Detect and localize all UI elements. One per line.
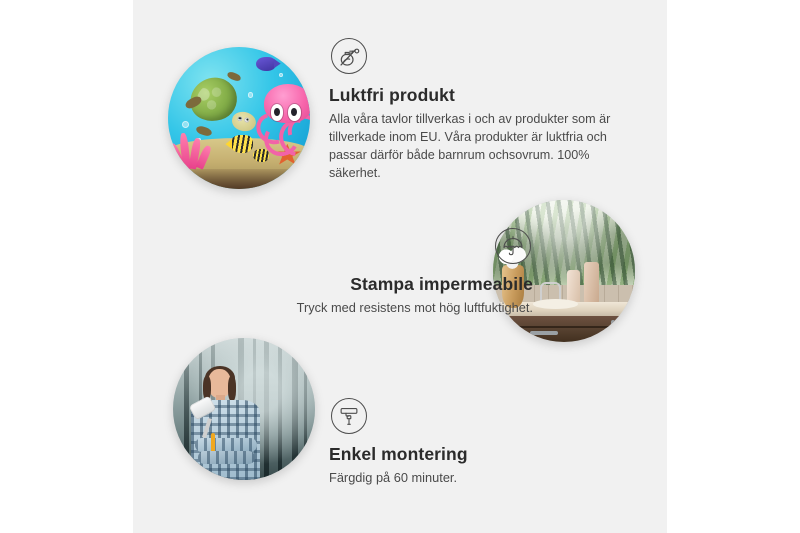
sea-turtle-icon bbox=[186, 75, 251, 132]
feature-body: Tryck med resistens mot hög luftfuktighe… bbox=[173, 299, 533, 317]
ocean-shadow-band bbox=[168, 169, 310, 189]
woman-figure bbox=[184, 369, 272, 480]
product-feature-infographic: Luktfri produkt Alla våra tavlor tillver… bbox=[0, 0, 800, 533]
lotion-bottle bbox=[584, 262, 600, 303]
feature-body: Alla våra tavlor tillverkas i och av pro… bbox=[329, 110, 621, 183]
no-spray-bottle-icon bbox=[331, 38, 367, 74]
feature-title: Luktfri produkt bbox=[329, 85, 629, 106]
infographic-canvas: Luktfri produkt Alla våra tavlor tillver… bbox=[133, 0, 667, 533]
feature-body: Färgdig på 60 minuter. bbox=[329, 469, 629, 487]
feature-odorless: Luktfri produkt Alla våra tavlor tillver… bbox=[329, 38, 629, 183]
yellow-fish-icon bbox=[230, 135, 253, 153]
blue-fish-icon bbox=[256, 57, 276, 71]
wooden-cabinet bbox=[493, 316, 635, 342]
woman-with-roller-photo bbox=[173, 338, 315, 480]
paint-roller-icon bbox=[331, 398, 367, 434]
umbrella-icon bbox=[495, 228, 531, 264]
coral-icon bbox=[171, 127, 219, 170]
product-image-ocean bbox=[168, 47, 310, 189]
feature-easy-mounting: Enkel montering Färgdig på 60 minuter. bbox=[329, 398, 629, 487]
soap-bottle bbox=[567, 270, 580, 304]
yellow-fish-small-icon bbox=[253, 149, 269, 162]
feature-title: Stampa impermeabile bbox=[173, 274, 533, 295]
feature-waterproof: Stampa impermeabile Tryck med resistens … bbox=[173, 228, 533, 317]
feature-title: Enkel montering bbox=[329, 444, 629, 465]
octopus-icon bbox=[253, 84, 310, 152]
product-image-woman bbox=[173, 338, 315, 480]
ocean-illustration bbox=[168, 47, 310, 189]
